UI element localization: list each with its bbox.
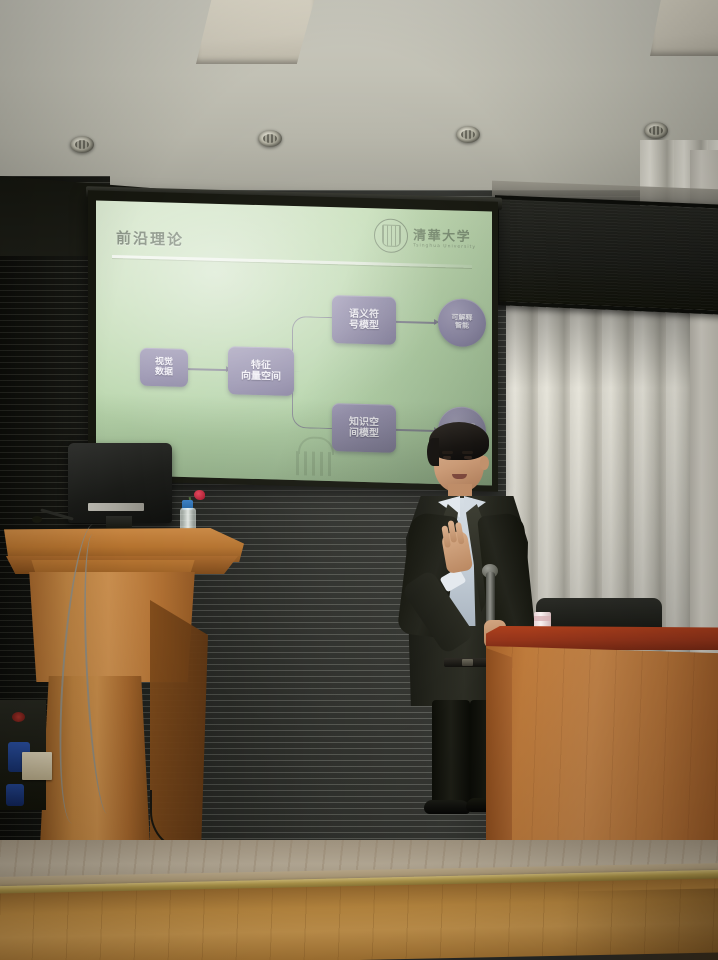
left-leg [432, 700, 470, 808]
eye [443, 456, 451, 459]
cable-label-tag [22, 752, 52, 780]
ear [480, 456, 489, 470]
slide-title-rule [112, 255, 472, 268]
recessed-downlight [644, 122, 668, 139]
diagram-node-n1: 视觉 数据 [140, 348, 188, 387]
diagram-node-n5: 知识空 间模型 [332, 403, 396, 453]
node-line: 间模型 [349, 428, 379, 440]
eyebrow [462, 451, 473, 454]
node-line: 向量空间 [241, 371, 281, 383]
node-line: 数据 [155, 367, 173, 378]
microphone-head-icon [32, 516, 42, 523]
podium-monitor [68, 443, 172, 523]
tsinghua-gate-watermark-icon [292, 436, 336, 477]
ceiling-coffer [196, 0, 316, 64]
eye [464, 456, 472, 459]
node-line: 特征 [251, 360, 271, 372]
hair [429, 422, 489, 460]
stage-front-shadow [560, 888, 718, 960]
ceiling-coffer [650, 0, 718, 56]
left-shoe [424, 800, 470, 814]
diagram-node-n4: 可解释 智能 [438, 298, 486, 347]
node-line: 智能 [455, 323, 469, 331]
logo-text-en: Tsinghua University [413, 243, 476, 250]
diagram-edge [396, 321, 436, 324]
paper-cup-band [534, 616, 551, 621]
logo-text-cn: 清華大学 [413, 224, 476, 245]
diagram-branch-down [292, 371, 333, 429]
red-flower [194, 490, 205, 500]
blue-connector [6, 784, 24, 806]
node-line: 视觉 [155, 357, 173, 368]
ceiling [0, 0, 718, 196]
belt-buckle [462, 659, 473, 666]
diagram-edge [188, 368, 228, 371]
desk-top [486, 626, 718, 650]
slide-title: 前沿理论 [116, 227, 184, 250]
diagram-branch-up [292, 316, 333, 374]
tsinghua-logo: 清華大学 Tsinghua University [374, 218, 476, 255]
node-line: 号模型 [349, 320, 379, 332]
node-line: 知识空 [349, 416, 379, 428]
node-line: 语义符 [349, 308, 379, 320]
dark-display-board [495, 195, 718, 315]
lecture-hall-photo: 前沿理论 清華大学 Tsinghua University [0, 0, 718, 960]
recessed-downlight [258, 130, 282, 147]
diagram-node-n2: 特征 向量空间 [228, 346, 294, 396]
tsinghua-emblem-icon [374, 218, 408, 253]
monitor-label-strip [88, 503, 144, 511]
diagram-node-n3: 语义符 号模型 [332, 295, 396, 345]
recessed-downlight [70, 136, 94, 153]
indicator-light-icon [12, 712, 25, 722]
recessed-downlight [456, 126, 480, 143]
eyebrow [442, 451, 453, 454]
monitor-stand [106, 516, 132, 530]
